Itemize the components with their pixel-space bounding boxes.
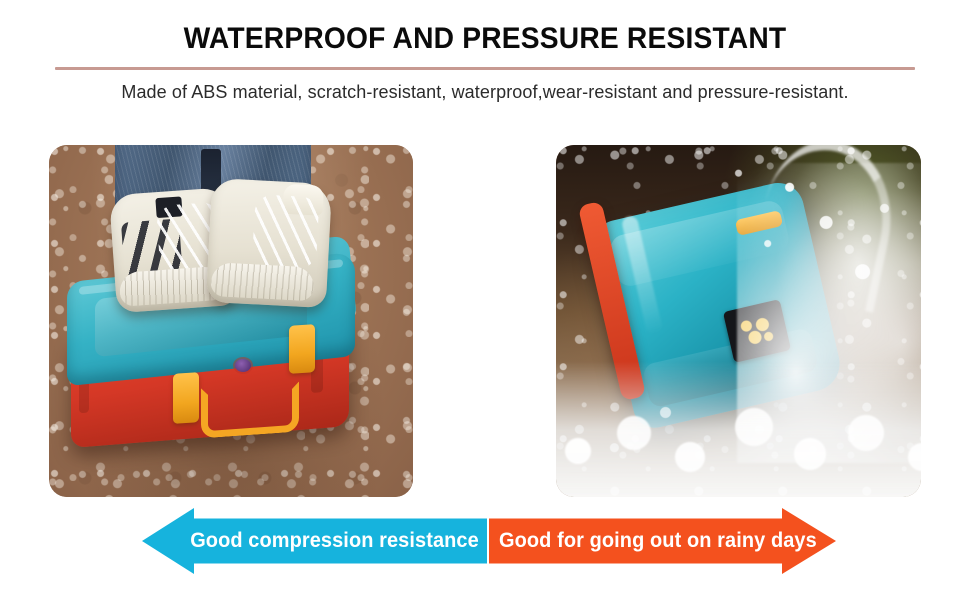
title-divider xyxy=(55,67,915,70)
feature-arrow-banner: Good compression resistance Good for goi… xyxy=(0,508,970,574)
page-subtitle: Made of ABS material, scratch-resistant,… xyxy=(0,82,970,103)
sneaker-laces xyxy=(252,194,320,269)
left-arrow-compression: Good compression resistance xyxy=(142,508,487,574)
water-foam xyxy=(556,361,921,497)
product-feature-banner: WATERPROOF AND PRESSURE RESISTANT Made o… xyxy=(0,0,970,600)
right-arrow-rainy-days: Good for going out on rainy days xyxy=(489,508,836,574)
header: WATERPROOF AND PRESSURE RESISTANT Made o… xyxy=(0,0,970,130)
case-latch-side xyxy=(289,324,315,374)
waterproof-scene xyxy=(556,145,921,497)
waterproof-photo xyxy=(556,145,921,497)
left-arrow-label: Good compression resistance xyxy=(190,529,479,553)
case-handle xyxy=(201,382,299,439)
sneaker-right xyxy=(206,178,332,308)
compression-scene xyxy=(49,145,413,497)
page-title: WATERPROOF AND PRESSURE RESISTANT xyxy=(29,22,941,56)
right-arrow-label: Good for going out on rainy days xyxy=(499,529,817,553)
sneaker-toe-cap xyxy=(210,262,315,301)
photo-panels xyxy=(0,145,970,497)
case-pressure-valve xyxy=(235,359,251,372)
compression-photo xyxy=(49,145,413,497)
case-latch-front xyxy=(173,372,199,424)
